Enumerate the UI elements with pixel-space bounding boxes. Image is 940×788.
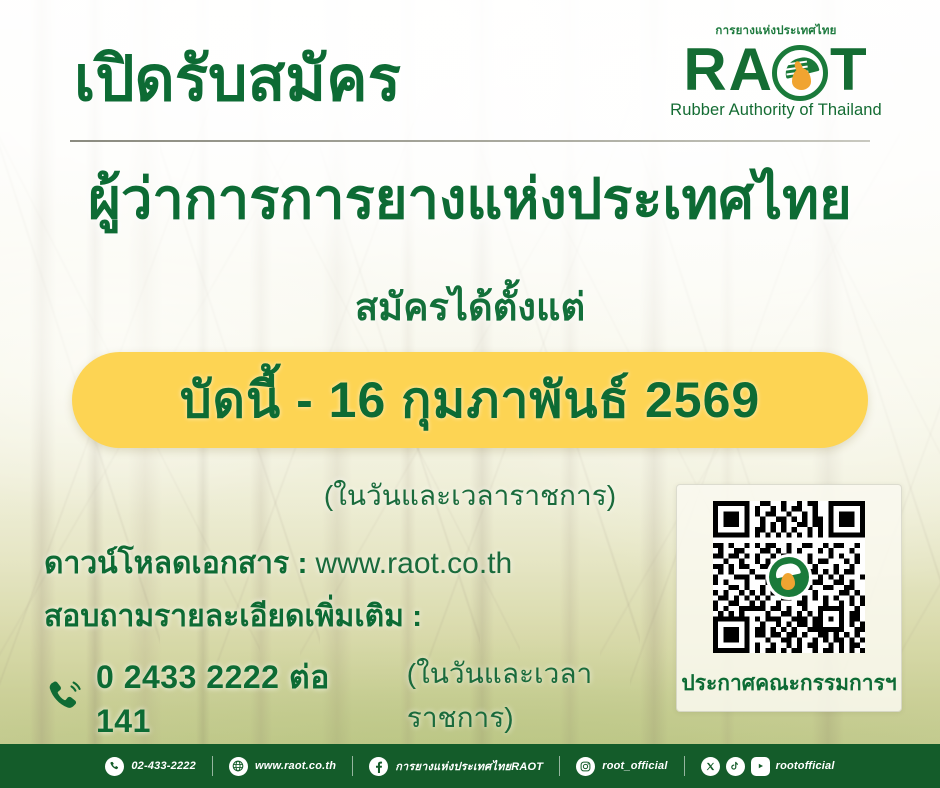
- enquiry-label: สอบถามรายละเอียดเพิ่มเติม :: [44, 593, 422, 640]
- footer-instagram-label: root_official: [602, 760, 667, 772]
- phone-icon: [105, 757, 124, 776]
- logo-ring: [769, 557, 809, 597]
- date-range-text: บัดนี้ - 16 กุมภาพันธ์ 2569: [180, 361, 760, 440]
- footer-divider: [559, 756, 560, 776]
- rubber-leaf-drop-icon: [772, 45, 828, 101]
- title-divider: [70, 140, 870, 142]
- logo-acronym: RAT: [662, 41, 890, 99]
- footer-website-label: www.raot.co.th: [255, 760, 336, 772]
- date-range-banner: บัดนี้ - 16 กุมภาพันธ์ 2569: [72, 352, 868, 448]
- footer-facebook-label: การยางแห่งประเทศไทยRAOT: [395, 757, 543, 775]
- download-label: ดาวน์โหลดเอกสาร :: [44, 540, 307, 587]
- footer-divider: [684, 756, 685, 776]
- apply-from-label: สมัครได้ตั้งแต่: [0, 276, 940, 337]
- qr-code[interactable]: [713, 501, 865, 653]
- logo-acronym-right: T: [830, 36, 869, 103]
- globe-icon: [229, 757, 248, 776]
- latex-drop-shape: [781, 573, 795, 590]
- raot-logo: การยางแห่งประเทศไทย RAT Rubber Authority…: [662, 22, 890, 120]
- footer-item-website[interactable]: www.raot.co.th: [229, 757, 336, 776]
- tiktok-icon[interactable]: [726, 757, 745, 776]
- download-url[interactable]: www.raot.co.th: [315, 547, 512, 581]
- footer-divider: [212, 756, 213, 776]
- poster-content: การยางแห่งประเทศไทย RAT Rubber Authority…: [0, 0, 940, 788]
- page-title: เปิดรับสมัคร: [74, 47, 401, 112]
- instagram-icon: [576, 757, 595, 776]
- enquiry-row: สอบถามรายละเอียดเพิ่มเติม :: [44, 593, 684, 640]
- latex-drop-shape: [792, 68, 811, 90]
- qr-caption: ประกาศคณะกรรมการฯ: [681, 667, 896, 700]
- phone-office-hours: (ในวันและเวลาราชการ): [407, 652, 684, 740]
- footer-item-instagram[interactable]: root_official: [576, 757, 667, 776]
- phone-number: 0 2433 2222 ต่อ 141: [96, 652, 379, 740]
- footer-item-facebook[interactable]: การยางแห่งประเทศไทยRAOT: [369, 757, 543, 776]
- x-twitter-icon[interactable]: [701, 757, 720, 776]
- contact-block: ดาวน์โหลดเอกสาร : www.raot.co.th สอบถามร…: [44, 540, 684, 740]
- logo-english-name: Rubber Authority of Thailand: [662, 101, 890, 120]
- phone-ringing-icon: [44, 677, 82, 715]
- poster-root: การยางแห่งประเทศไทย RAT Rubber Authority…: [0, 0, 940, 788]
- facebook-icon: [369, 757, 388, 776]
- youtube-icon[interactable]: [751, 757, 770, 776]
- qr-card[interactable]: ประกาศคณะกรรมการฯ: [676, 484, 902, 712]
- position-title: ผู้ว่าการการยางแห่งประเทศไทย: [0, 168, 940, 230]
- footer-divider: [352, 756, 353, 776]
- footer-youtube-label: rootofficial: [776, 760, 835, 772]
- phone-row: 0 2433 2222 ต่อ 141 (ในวันและเวลาราชการ): [44, 652, 684, 740]
- footer-item-phone[interactable]: 02-433-2222: [105, 757, 196, 776]
- footer-phone-label: 02-433-2222: [131, 760, 196, 772]
- raot-logo-icon: [766, 554, 812, 600]
- download-row: ดาวน์โหลดเอกสาร : www.raot.co.th: [44, 540, 684, 587]
- footer-social-group[interactable]: rootofficial: [701, 757, 835, 776]
- logo-acronym-left: RA: [683, 36, 774, 103]
- footer-bar: 02-433-2222 www.raot.co.th: [0, 744, 940, 788]
